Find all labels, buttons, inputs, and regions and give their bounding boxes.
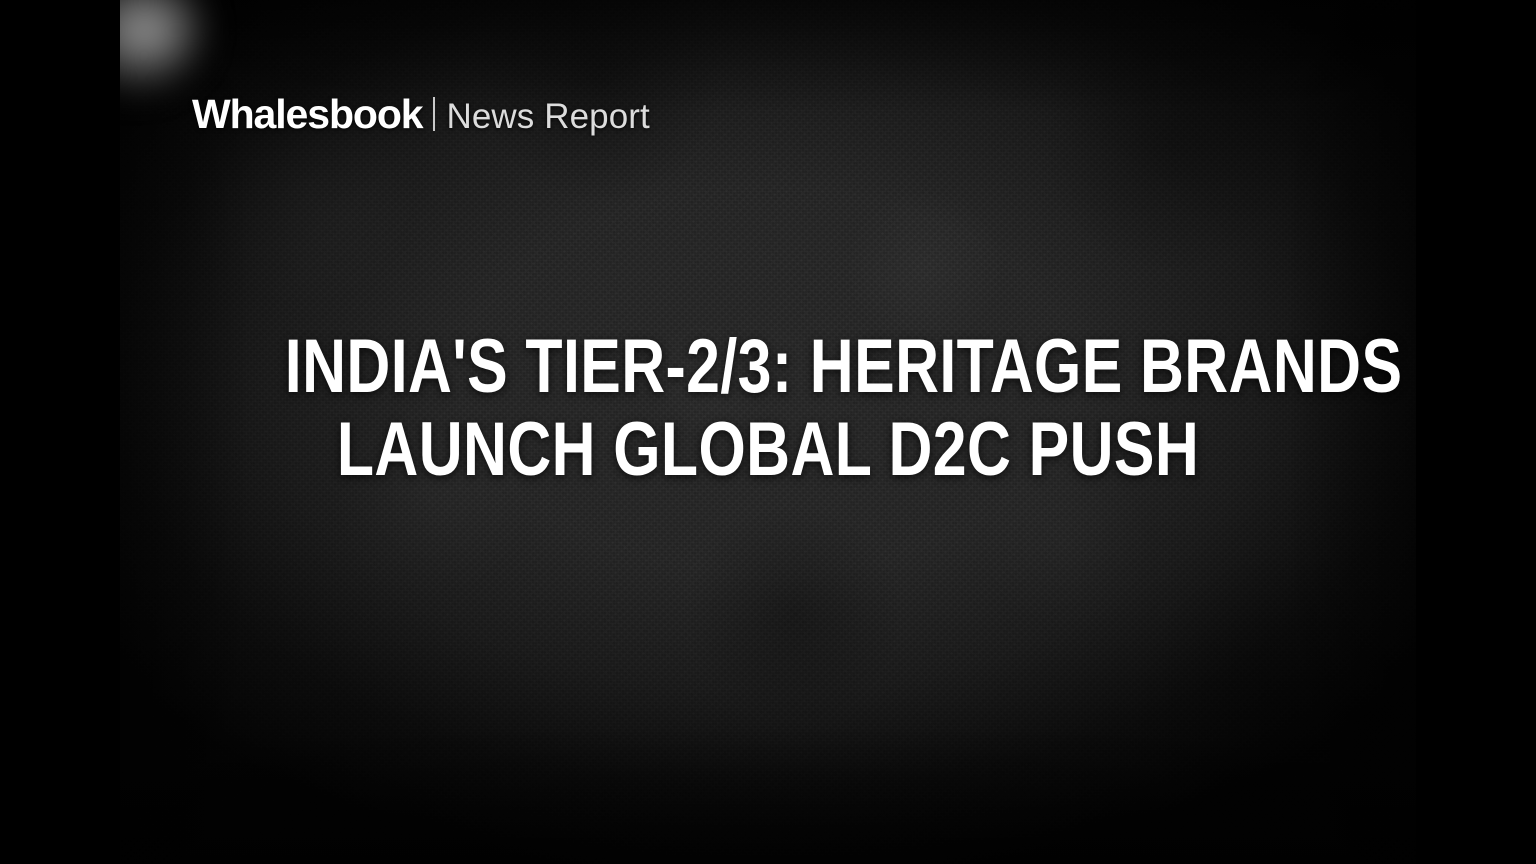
brand-logo-lockup: Whalesbook News Report (192, 94, 650, 135)
headline-block: India's Tier-2/3: Heritage Brands Launch… (120, 330, 1416, 488)
brand-wordmark: Whalesbook (192, 94, 422, 135)
headline-line-1: India's Tier-2/3: Heritage Brands (285, 330, 1251, 405)
logo-divider-icon (433, 97, 435, 131)
headline-line-2: Launch Global D2C Push (285, 413, 1251, 488)
brand-subtitle: News Report (446, 99, 649, 134)
news-card: Whalesbook News Report India's Tier-2/3:… (120, 0, 1416, 864)
news-card-stage: Whalesbook News Report India's Tier-2/3:… (0, 0, 1536, 864)
